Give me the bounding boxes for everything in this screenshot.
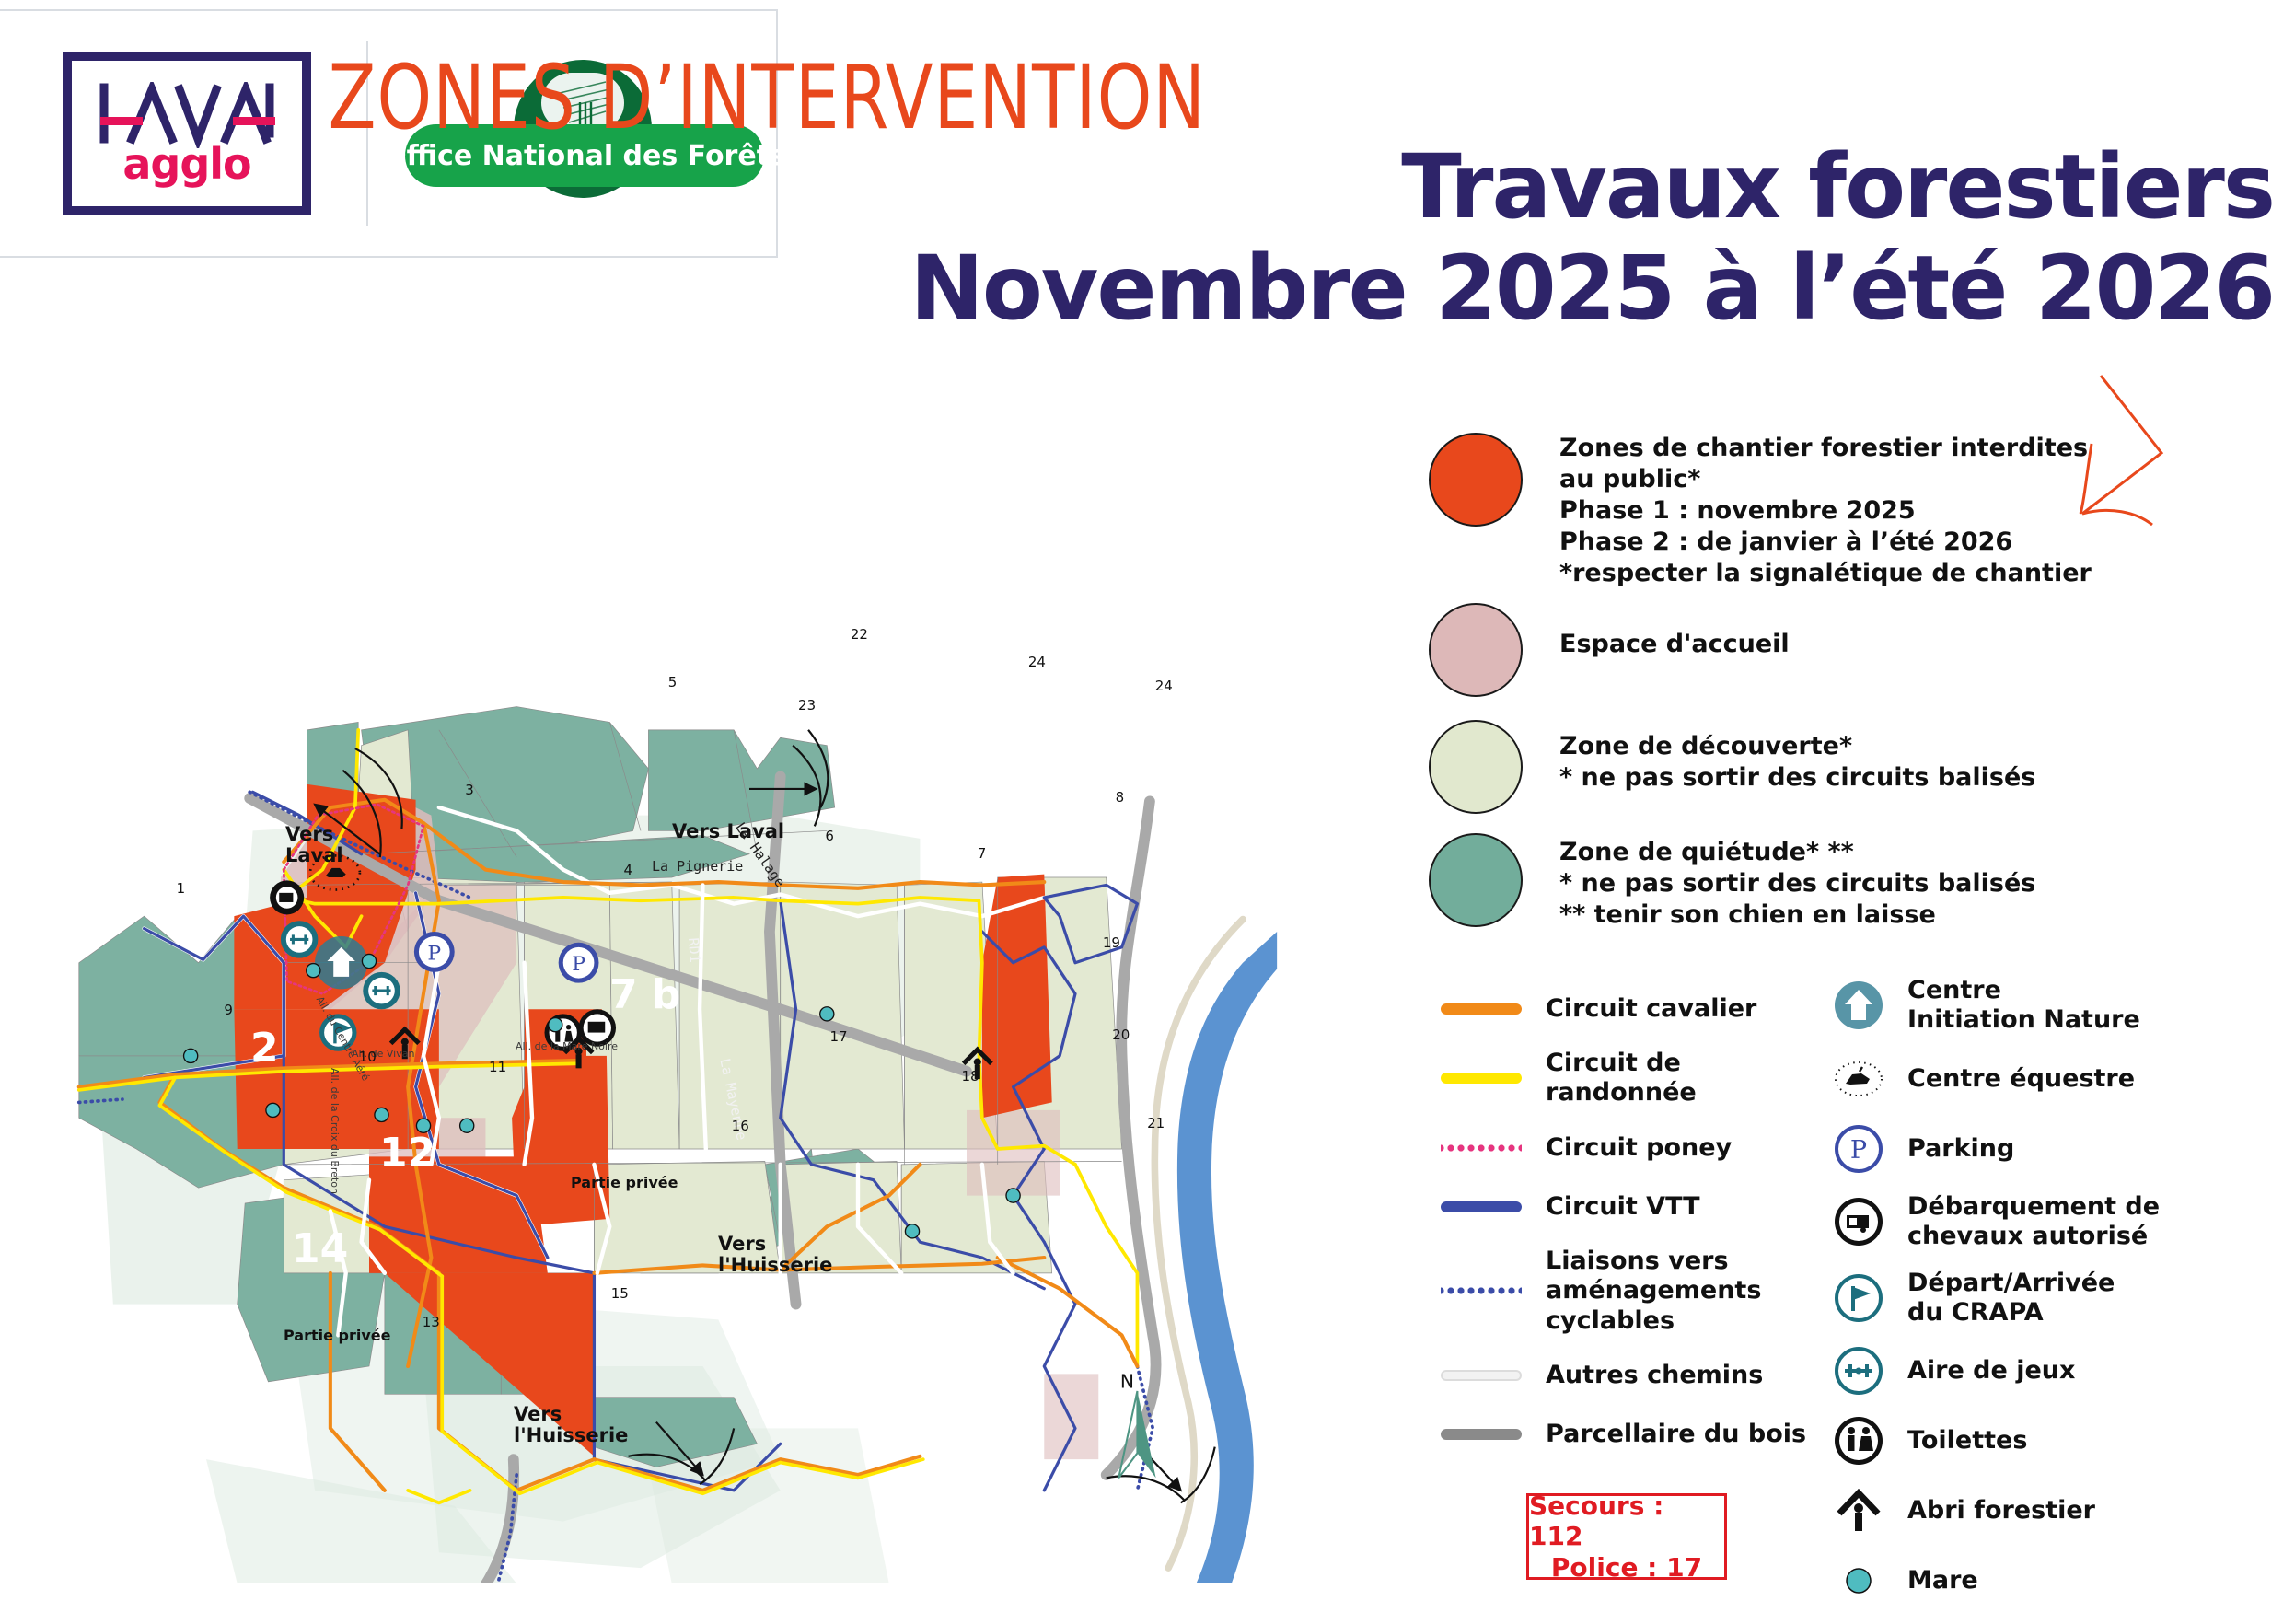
- playground-icon: [1832, 1344, 1885, 1398]
- parcel-number: 16: [732, 1118, 749, 1134]
- line-swatch: [1441, 1003, 1522, 1015]
- zone-legend-item-decouverte: Zone de découverte* * ne pas sortir des …: [1429, 720, 2035, 814]
- line-swatch: [1441, 1201, 1522, 1212]
- icon-legend-item: Aire de jeux: [1832, 1344, 2265, 1398]
- map-svg[interactable]: .qz{fill:#7DB1A1;stroke:#8a8a8a;stroke-w…: [37, 497, 1353, 1583]
- icon-legend-item: Mare: [1832, 1554, 2265, 1607]
- parcel-number: 13: [423, 1314, 440, 1330]
- icon-legend-label: Débarquement de chevaux autorisé: [1907, 1192, 2160, 1252]
- parcel-number: 15: [611, 1285, 629, 1302]
- parcel-number: 9: [224, 1002, 233, 1018]
- parcel-number: 1: [177, 880, 186, 897]
- zone-label-accueil: Espace d'accueil: [1559, 629, 1790, 660]
- circuit-line-legend: Circuit cavalierCircuit de randonnéeCirc…: [1441, 990, 1809, 1474]
- icon-legend-item: Débarquement de chevaux autorisé: [1832, 1192, 2265, 1252]
- line-legend-item: Circuit VTT: [1441, 1188, 1809, 1226]
- line-swatch: [1441, 1370, 1522, 1381]
- parcel-number: 4: [624, 862, 633, 878]
- direction-label-vers-huisserie-e: Vers l'Huisserie: [718, 1234, 832, 1276]
- work-zone-number-14: 14: [292, 1230, 348, 1269]
- line-legend-label: Circuit VTT: [1546, 1192, 1700, 1222]
- centre-initiation-nature-icon[interactable]: [315, 936, 367, 989]
- place-label-partie-privee-1: Partie privée: [571, 1175, 678, 1191]
- svg-text:P: P: [1850, 1136, 1867, 1165]
- icon-legend-label: Parking: [1907, 1134, 2014, 1164]
- parking-icon[interactable]: P: [414, 932, 455, 972]
- line-legend-label: Circuit de randonnée: [1546, 1049, 1809, 1108]
- icon-legend-item: Abri forestier: [1832, 1484, 2265, 1537]
- zone-legend-item-accueil: Espace d'accueil: [1429, 603, 1790, 697]
- parcel-number: 23: [798, 697, 816, 713]
- zone-legend-item-quietude: Zone de quiétude* ** * ne pas sortir des…: [1429, 833, 2035, 931]
- line-swatch: [1441, 1286, 1522, 1295]
- parcel-number: 24: [1155, 678, 1173, 694]
- icon-legend-label: Centre équestre: [1907, 1064, 2135, 1094]
- zone-legend-item-chantier: Zones de chantier forestier interdites a…: [1429, 433, 2092, 589]
- playground-icon[interactable]: [281, 921, 318, 957]
- parcel-number: 20: [1112, 1027, 1130, 1043]
- parcel-number: 6: [825, 828, 834, 844]
- emergency-numbers-box: Secours : 112 Police : 17: [1526, 1493, 1727, 1580]
- direction-label-vers-huisserie-s: Vers l'Huisserie: [514, 1404, 628, 1446]
- icon-legend-item: PParking: [1832, 1122, 2265, 1176]
- icon-legend-label: Toilettes: [1907, 1426, 2027, 1456]
- work-zone-number-7b: 7 b: [609, 976, 680, 1015]
- place-label-partie-privee-2: Partie privée: [284, 1328, 391, 1344]
- line-legend-item: Circuit cavalier: [1441, 990, 1809, 1028]
- street-label-mare-noire: All. de la Mare Noire: [516, 1040, 618, 1052]
- zone-swatch-accueil: [1429, 603, 1523, 697]
- line-swatch: [1441, 1073, 1522, 1084]
- la-mayenne-river: [1154, 920, 1277, 1583]
- line-swatch: [1441, 1429, 1522, 1440]
- line-swatch: [1441, 1143, 1522, 1153]
- page-title-line1: ZONES D’INTERVENTION: [145, 46, 1206, 149]
- line-legend-label: Circuit poney: [1546, 1133, 1732, 1163]
- toilets-icon: [1832, 1414, 1885, 1467]
- horse-unloading-icon[interactable]: [270, 880, 304, 914]
- icon-legend-item: Centre Initiation Nature: [1832, 976, 2265, 1036]
- icon-legend-label: Départ/Arrivée du CRAPA: [1907, 1269, 2115, 1328]
- line-legend-item: Autres chemins: [1441, 1356, 1809, 1395]
- line-legend-item: Parcellaire du bois: [1441, 1415, 1809, 1454]
- parcel-number: 7: [978, 845, 987, 862]
- zone-swatch-decouverte: [1429, 720, 1523, 814]
- playground-icon[interactable]: [363, 972, 400, 1009]
- map-icon-legend: Centre Initiation NatureCentre équestreP…: [1832, 976, 2265, 1624]
- parcel-number: 24: [1028, 654, 1046, 670]
- direction-label-vers-laval-nw: Vers Laval: [285, 824, 343, 866]
- parcel-number: 3: [465, 782, 474, 798]
- icon-legend-label: Aire de jeux: [1907, 1356, 2075, 1386]
- parcel-number: 22: [851, 626, 868, 643]
- zone-swatch-chantier: [1429, 433, 1523, 527]
- road-label-rd1: RD1: [685, 937, 703, 963]
- horse-unloading-icon: [1832, 1195, 1885, 1248]
- zone-swatch-quietude: [1429, 833, 1523, 927]
- line-legend-item: Circuit poney: [1441, 1129, 1809, 1167]
- icon-legend-item: Centre équestre: [1832, 1052, 2265, 1106]
- line-legend-label: Liaisons vers aménagements cyclables: [1546, 1247, 1809, 1336]
- forest-shelter-icon: [1832, 1484, 1885, 1537]
- icon-legend-label: Centre Initiation Nature: [1907, 976, 2140, 1036]
- parcel-number: 5: [668, 674, 678, 690]
- parcel-number: 10: [359, 1049, 377, 1065]
- line-legend-item: Circuit de randonnée: [1441, 1049, 1809, 1108]
- line-legend-label: Autres chemins: [1546, 1361, 1763, 1390]
- forest-map[interactable]: .qz{fill:#7DB1A1;stroke:#8a8a8a;stroke-w…: [37, 497, 1353, 1583]
- parcel-number: 19: [1103, 934, 1120, 951]
- place-label-la-pignerie: La Pignerie: [652, 858, 743, 875]
- parking-icon: P: [1832, 1122, 1885, 1176]
- parking-icon[interactable]: P: [559, 943, 599, 983]
- page-title-line2: Travaux forestiers: [829, 143, 2274, 233]
- work-zone-number-2: 2: [250, 1029, 279, 1068]
- svg-text:P: P: [572, 953, 585, 976]
- line-legend-label: Circuit cavalier: [1546, 994, 1756, 1024]
- icon-legend-item: Toilettes: [1832, 1414, 2265, 1467]
- street-label-croix-du-breton: All. de la Croix du Breton: [329, 1068, 341, 1194]
- line-legend-label: Parcellaire du bois: [1546, 1420, 1806, 1449]
- emergency-police: Police : 17: [1551, 1552, 1702, 1583]
- north-label: N: [1120, 1371, 1134, 1393]
- icon-legend-item: Départ/Arrivée du CRAPA: [1832, 1269, 2265, 1328]
- line-legend-item: Liaisons vers aménagements cyclables: [1441, 1247, 1809, 1336]
- zone-label-quietude: Zone de quiétude* ** * ne pas sortir des…: [1559, 837, 2035, 931]
- direction-label-vers-laval-ne: Vers Laval: [672, 821, 784, 842]
- parcel-number: 17: [830, 1028, 848, 1045]
- crapa-flag-icon: [1832, 1271, 1885, 1325]
- zone-label-chantier: Zones de chantier forestier interdites a…: [1559, 433, 2092, 589]
- icon-legend-label: Abri forestier: [1907, 1496, 2095, 1525]
- centre-equestre-icon: [1832, 1052, 1885, 1106]
- parcel-number: 8: [1116, 789, 1125, 806]
- icon-legend-label: Mare: [1907, 1566, 1978, 1595]
- zone-label-decouverte: Zone de découverte* * ne pas sortir des …: [1559, 731, 2035, 794]
- emergency-secours: Secours : 112: [1529, 1491, 1724, 1551]
- centre-initiation-nature-icon: [1832, 979, 1885, 1032]
- work-zone-number-12: 12: [379, 1134, 435, 1173]
- page-title-line3: Novembre 2025 à l’été 2026: [644, 244, 2274, 334]
- parcel-number: 21: [1147, 1115, 1165, 1131]
- svg-text:P: P: [427, 942, 441, 965]
- pond-icon: [1832, 1554, 1885, 1607]
- parcel-number: 18: [962, 1068, 979, 1085]
- parcel-number: 11: [489, 1059, 506, 1075]
